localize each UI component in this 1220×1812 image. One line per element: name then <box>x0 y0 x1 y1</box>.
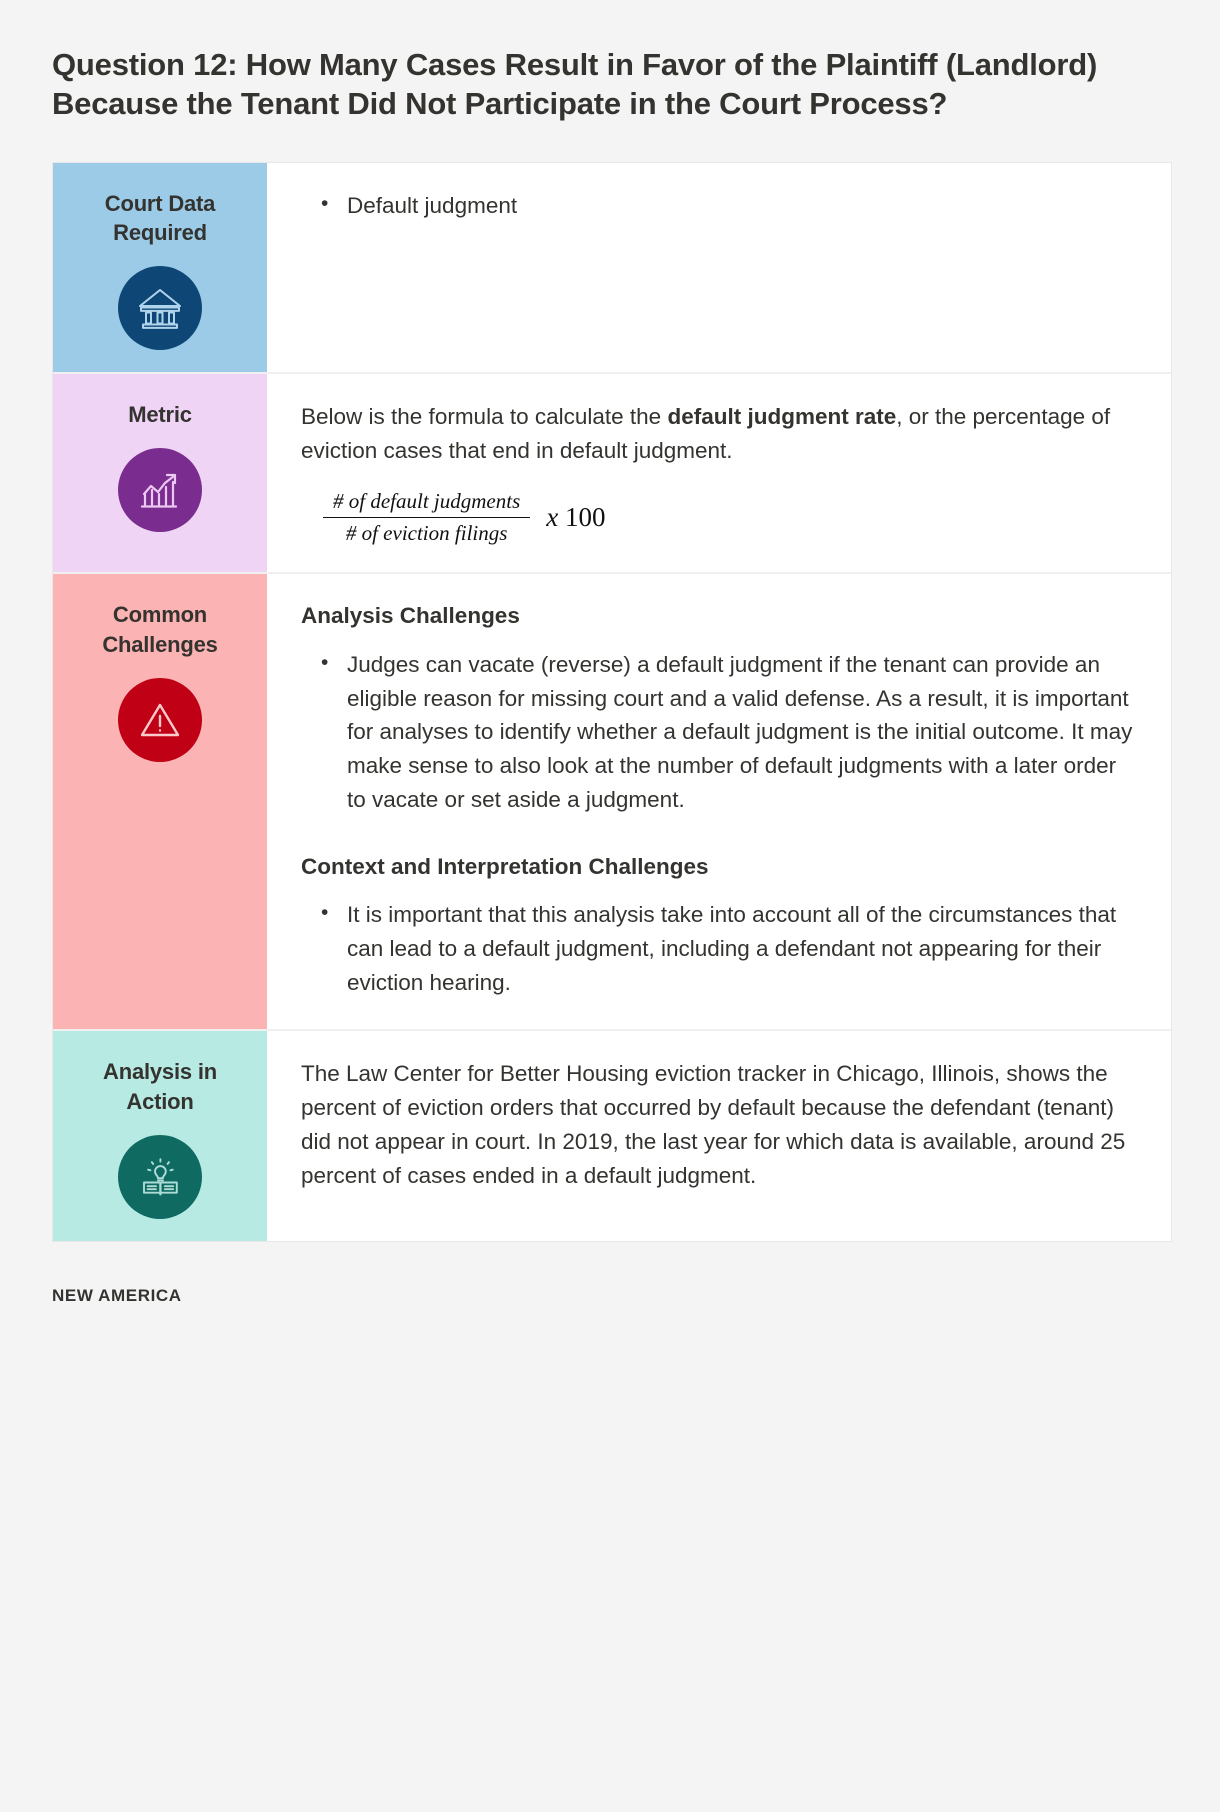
court-data-bullet-list: Default judgment <box>301 189 1137 223</box>
analysis-in-action-paragraph: The Law Center for Better Housing evicti… <box>301 1057 1137 1192</box>
row-content-court-data-required: Default judgment <box>267 163 1171 372</box>
table-row-analysis-in-action: Analysis in Action <box>53 1031 1171 1240</box>
table-row-metric: Metric Below is the formula to cal <box>53 374 1171 575</box>
row-label-text: Court Data Required <box>67 189 253 248</box>
row-label-text: Analysis in Action <box>67 1057 253 1116</box>
formula-operator: x <box>546 502 558 532</box>
question-detail-table: Court Data Required Default judgment <box>52 162 1172 1242</box>
row-content-metric: Below is the formula to calculate the de… <box>267 374 1171 573</box>
default-judgment-rate-formula: # of default judgments # of eviction fil… <box>323 489 1137 546</box>
metric-intro-bold: default judgment rate <box>667 404 896 429</box>
page-title: Question 12: How Many Cases Result in Fa… <box>52 46 1168 124</box>
table-row-court-data-required: Court Data Required Default judgment <box>53 163 1171 374</box>
book-lightbulb-icon <box>118 1135 202 1219</box>
list-item: Default judgment <box>301 189 1137 223</box>
row-label-common-challenges: Common Challenges <box>53 574 267 1029</box>
row-content-analysis-in-action: The Law Center for Better Housing evicti… <box>267 1031 1171 1240</box>
list-item: Judges can vacate (reverse) a default ju… <box>301 648 1137 817</box>
row-content-common-challenges: Analysis Challenges Judges can vacate (r… <box>267 574 1171 1029</box>
row-label-text: Common Challenges <box>67 600 253 659</box>
list-item: It is important that this analysis take … <box>301 898 1137 999</box>
formula-multiplier-value: 100 <box>565 502 606 532</box>
context-interpretation-heading: Context and Interpretation Challenges <box>301 851 1137 883</box>
table-row-common-challenges: Common Challenges Analysis Challenges Ju… <box>53 574 1171 1031</box>
row-label-analysis-in-action: Analysis in Action <box>53 1031 267 1240</box>
context-interpretation-bullet-list: It is important that this analysis take … <box>301 898 1137 999</box>
formula-denominator: # of eviction filings <box>323 518 530 546</box>
formula-multiplier: x 100 <box>546 502 605 533</box>
row-label-text: Metric <box>128 400 192 430</box>
warning-triangle-icon <box>118 678 202 762</box>
footer-brand: NEW AMERICA <box>52 1286 1168 1306</box>
courthouse-icon <box>118 266 202 350</box>
row-label-court-data-required: Court Data Required <box>53 163 267 372</box>
analysis-challenges-bullet-list: Judges can vacate (reverse) a default ju… <box>301 648 1137 817</box>
page-container: Question 12: How Many Cases Result in Fa… <box>0 0 1220 1306</box>
metric-intro-prefix: Below is the formula to calculate the <box>301 404 667 429</box>
analysis-challenges-heading: Analysis Challenges <box>301 600 1137 632</box>
formula-fraction: # of default judgments # of eviction fil… <box>323 489 530 546</box>
bar-chart-growth-icon <box>118 448 202 532</box>
row-label-metric: Metric <box>53 374 267 573</box>
metric-intro-text: Below is the formula to calculate the de… <box>301 400 1137 468</box>
formula-numerator: # of default judgments <box>323 489 530 518</box>
